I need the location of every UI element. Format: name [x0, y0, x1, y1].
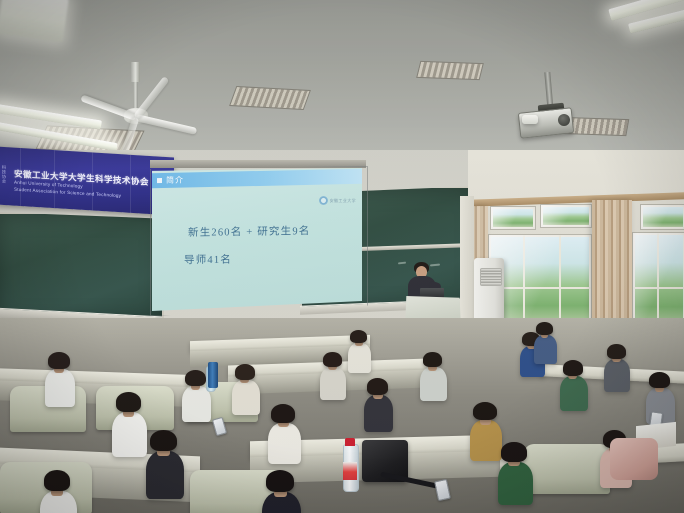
- audience-torso: [560, 376, 588, 411]
- audience-torso: [268, 423, 301, 465]
- audience-member: [560, 360, 591, 410]
- audience-torso: [182, 386, 211, 422]
- audience-torso: [112, 412, 147, 457]
- audience-torso: [534, 335, 557, 364]
- audience-torso: [420, 367, 447, 401]
- audience-member: [320, 352, 350, 400]
- audience-member: [45, 352, 79, 406]
- audience-torso: [45, 369, 75, 407]
- audience-hair: [266, 470, 295, 492]
- audience-hair: [116, 392, 142, 412]
- audience-member: [232, 364, 263, 414]
- audience-hair: [649, 372, 670, 388]
- bottle-cap: [345, 438, 355, 446]
- pink-bag: [610, 438, 658, 480]
- audience: [0, 0, 684, 513]
- audience-member: [498, 442, 537, 504]
- audience-member: [348, 330, 375, 372]
- audience-member: [604, 344, 634, 392]
- audience-member: [262, 470, 306, 513]
- audience-hair: [44, 470, 71, 491]
- audience-member: [146, 430, 189, 498]
- audience-hair: [473, 402, 497, 420]
- audience-member: [268, 404, 305, 463]
- audience-hair: [501, 442, 526, 462]
- audience-hair: [48, 352, 70, 369]
- audience-torso: [320, 367, 346, 400]
- audience-hair: [271, 404, 295, 423]
- audience-torso: [604, 359, 630, 392]
- audience-member: [534, 322, 560, 363]
- audience-hair: [563, 360, 583, 376]
- audience-member: [40, 470, 81, 513]
- lecture-hall-photo: 科技协会 安徽工业大学大学生科学技术协会 Anhui University of…: [0, 0, 684, 513]
- audience-torso: [146, 451, 184, 499]
- audience-hair: [536, 322, 553, 335]
- audience-torso: [348, 343, 371, 373]
- audience-torso: [498, 462, 533, 506]
- thermos-bottle: [208, 362, 218, 388]
- audience-torso: [232, 380, 260, 415]
- bottle-label: [343, 462, 357, 480]
- audience-hair: [185, 370, 206, 386]
- audience-hair: [150, 430, 178, 451]
- audience-member: [420, 352, 451, 401]
- audience-torso: [364, 395, 393, 432]
- audience-hair: [607, 344, 626, 359]
- audience-hair: [367, 378, 389, 395]
- audience-hair: [350, 330, 367, 343]
- audience-hair: [323, 352, 342, 367]
- audience-member: [364, 378, 397, 431]
- audience-hair: [235, 364, 255, 380]
- audience-hair: [423, 352, 443, 367]
